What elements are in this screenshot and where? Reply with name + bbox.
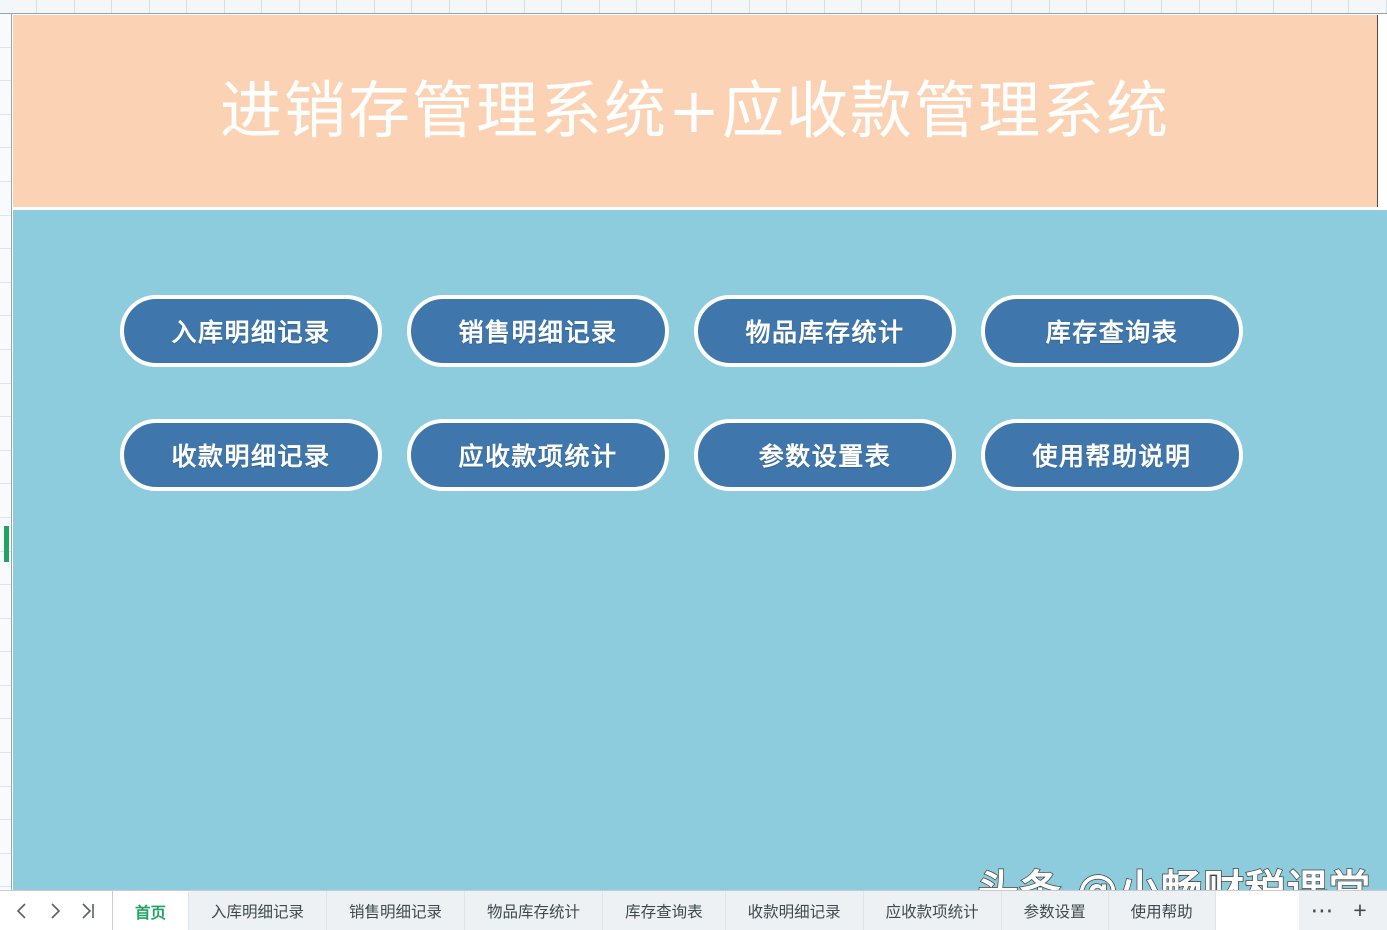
title-banner: 进销存管理系统+应收款管理系统 [13,15,1378,207]
sheet-tab[interactable]: 销售明细记录 [327,891,465,930]
menu-button[interactable]: 应收款项统计 [407,419,669,491]
menu-button[interactable]: 物品库存统计 [694,295,956,367]
row-header-cell [0,283,11,317]
row-header-cell [0,182,11,216]
column-header-cell [225,0,262,13]
sheet-tab-end-controls: ⋯ + [1299,891,1387,930]
sheet-tab[interactable]: 使用帮助 [1109,891,1216,930]
column-header-cell [900,0,937,13]
row-header-cell [0,484,11,518]
sheet-nav-controls [0,891,113,930]
column-header-cell [975,0,1012,13]
column-header-cell [562,0,599,13]
column-header-cell [600,0,637,13]
row-header-cell [0,81,11,115]
prev-sheet-icon[interactable] [8,896,36,926]
sheet-tab[interactable]: 入库明细记录 [189,891,327,930]
menu-button[interactable]: 销售明细记录 [407,295,669,367]
row-header-cell [0,753,11,787]
column-header-cell [187,0,224,13]
column-header-cell [1349,0,1386,13]
active-cell-marker [4,526,9,562]
column-header-cell [1050,0,1087,13]
row-header-cell [0,417,11,451]
column-header-cell [1274,0,1311,13]
spreadsheet-row-gutter [0,14,12,890]
row-header-cell [0,350,11,384]
row-header-cell [0,115,11,149]
column-header-cell [1162,0,1199,13]
row-header-cell [0,820,11,854]
column-header-cell [712,0,749,13]
add-sheet-icon[interactable]: + [1347,896,1373,926]
column-header-cell [262,0,299,13]
column-header-cell [150,0,187,13]
page-title: 进销存管理系统+应收款管理系统 [220,77,1170,145]
column-header-cell [1087,0,1124,13]
sheet-tab[interactable]: 库存查询表 [603,891,726,930]
last-sheet-icon[interactable] [74,896,102,926]
row-header-cell [0,384,11,418]
row-header-cell [0,316,11,350]
row-header-cell [0,619,11,653]
row-header-cell [0,451,11,485]
row-header-cell [0,719,11,753]
column-header-cell [750,0,787,13]
column-header-cell [862,0,899,13]
more-sheets-icon[interactable]: ⋯ [1309,896,1335,926]
column-header-cell [825,0,862,13]
row-header-cell [0,787,11,821]
row-header-cell [0,652,11,686]
column-header-cell [1012,0,1049,13]
row-header-cell [0,148,11,182]
sheet-tab[interactable]: 物品库存统计 [465,891,603,930]
menu-button-row: 入库明细记录销售明细记录物品库存统计库存查询表 [120,295,1270,367]
column-header-cell [637,0,674,13]
workbook-window: 进销存管理系统+应收款管理系统 入库明细记录销售明细记录物品库存统计库存查询表收… [0,0,1387,930]
sheet-tab[interactable]: 参数设置 [1002,891,1109,930]
menu-button[interactable]: 入库明细记录 [120,295,382,367]
row-header-cell [0,48,11,82]
column-header-cell [525,0,562,13]
row-header-cell [0,249,11,283]
menu-button-grid: 入库明细记录销售明细记录物品库存统计库存查询表收款明细记录应收款项统计参数设置表… [120,295,1270,491]
menu-button-row: 收款明细记录应收款项统计参数设置表使用帮助说明 [120,419,1270,491]
column-header-cell [487,0,524,13]
column-header-cell [1237,0,1274,13]
column-header-cell [1125,0,1162,13]
column-header-cell [37,0,74,13]
menu-button[interactable]: 库存查询表 [981,295,1243,367]
column-header-cell [112,0,149,13]
column-header-cell [1312,0,1349,13]
column-header-cell [1200,0,1237,13]
sheet-tabs: 首页入库明细记录销售明细记录物品库存统计库存查询表收款明细记录应收款项统计参数设… [113,891,1299,930]
spreadsheet-column-strip [0,0,1387,14]
column-header-cell [675,0,712,13]
row-header-cell [0,216,11,250]
row-header-cell [0,585,11,619]
menu-button[interactable]: 使用帮助说明 [981,419,1243,491]
sheet-tab-bar: 首页入库明细记录销售明细记录物品库存统计库存查询表收款明细记录应收款项统计参数设… [0,890,1387,930]
column-header-cell [787,0,824,13]
column-header-cell [412,0,449,13]
column-header-cell [375,0,412,13]
column-header-cell [937,0,974,13]
column-header-cell [450,0,487,13]
next-sheet-icon[interactable] [41,896,69,926]
column-header-cell [75,0,112,13]
row-header-cell [0,686,11,720]
row-header-cell [0,854,11,888]
sheet-tab[interactable]: 首页 [113,891,189,930]
menu-button[interactable]: 参数设置表 [694,419,956,491]
column-header-cell [0,0,37,13]
sheet-tab[interactable]: 收款明细记录 [726,891,864,930]
menu-button[interactable]: 收款明细记录 [120,419,382,491]
sheet-tab[interactable]: 应收款项统计 [864,891,1002,930]
column-header-cell [337,0,374,13]
column-header-cell [300,0,337,13]
row-header-cell [0,14,11,48]
